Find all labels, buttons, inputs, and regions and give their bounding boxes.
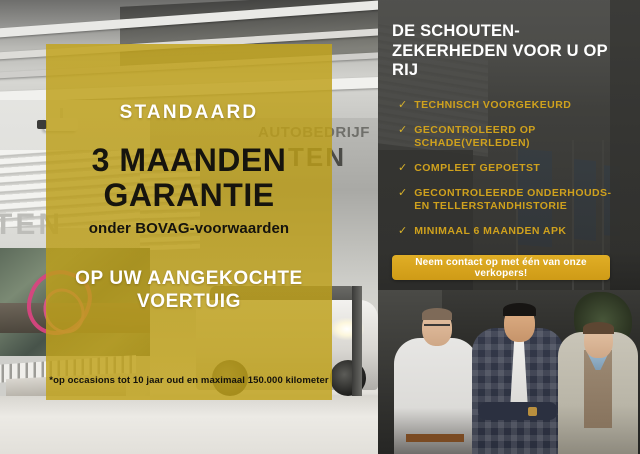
eyebrow-label: STANDAARD bbox=[120, 102, 259, 124]
check-icon: ✓ bbox=[398, 99, 407, 113]
list-item: ✓ GECONTROLEERDE ONDERHOUDS- EN TELLERST… bbox=[398, 187, 626, 214]
list-item: ✓ TECHNISCH VOORGEKEURD bbox=[398, 99, 626, 113]
left-panel-content: STANDAARD 3 MAANDEN GARANTIE onder BOVAG… bbox=[46, 44, 332, 400]
subheadline: onder BOVAG-voorwaarden bbox=[89, 220, 289, 237]
lift-post bbox=[352, 286, 362, 398]
headline-line-1: 3 MAANDEN bbox=[92, 144, 287, 177]
check-icon: ✓ bbox=[398, 162, 407, 176]
list-item: ✓ MINIMAAL 6 MAANDEN APK bbox=[398, 225, 626, 239]
list-item-label: COMPLEET GEPOETST bbox=[414, 162, 540, 176]
list-item-label: GECONTROLEERDE ONDERHOUDS- EN TELLERSTAN… bbox=[414, 187, 626, 214]
footnote-text: *op occasions tot 10 jaar oud en maximaa… bbox=[46, 375, 332, 386]
headline-line-2: GARANTIE bbox=[103, 179, 274, 212]
list-item: ✓ COMPLEET GEPOETST bbox=[398, 162, 626, 176]
page-title: DE SCHOUTEN-ZEKERHEDEN VOOR U OP RIJ bbox=[392, 22, 626, 81]
check-icon: ✓ bbox=[398, 124, 407, 138]
claim-text: OP UW AANGEKOCHTE VOERTUIG bbox=[46, 267, 332, 313]
right-panel: DE SCHOUTEN-ZEKERHEDEN VOOR U OP RIJ ✓ T… bbox=[378, 0, 640, 454]
list-item-label: MINIMAAL 6 MAANDEN APK bbox=[414, 225, 566, 239]
contact-sales-button[interactable]: Neem contact op met één van onze verkope… bbox=[392, 255, 610, 280]
list-item-label: GECONTROLEERD OP SCHADE(VERLEDEN) bbox=[414, 124, 626, 151]
check-icon: ✓ bbox=[398, 187, 407, 201]
benefits-list: ✓ TECHNISCH VOORGEKEURD ✓ GECONTROLEERD … bbox=[392, 99, 626, 239]
left-panel: TEN AUTOBEDRIJF TEN STANDAARD 3 MAANDEN … bbox=[0, 0, 378, 454]
check-icon: ✓ bbox=[398, 225, 407, 239]
warranty-promo-banner: TEN AUTOBEDRIJF TEN STANDAARD 3 MAANDEN … bbox=[0, 0, 640, 454]
list-item-label: TECHNISCH VOORGEKEURD bbox=[414, 99, 571, 113]
showroom-floor bbox=[0, 396, 378, 454]
list-item: ✓ GECONTROLEERD OP SCHADE(VERLEDEN) bbox=[398, 124, 626, 151]
right-panel-content: DE SCHOUTEN-ZEKERHEDEN VOOR U OP RIJ ✓ T… bbox=[378, 0, 640, 454]
